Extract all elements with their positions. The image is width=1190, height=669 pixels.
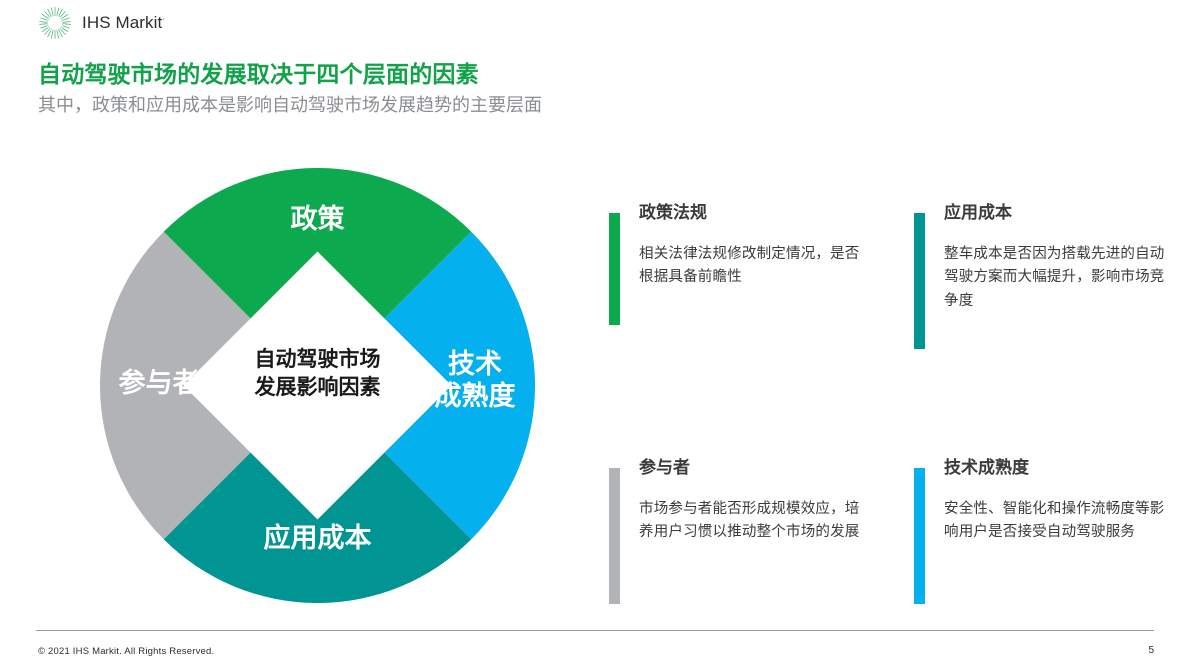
brand-wordmark-text: IHS Markit	[82, 13, 162, 32]
page-subtitle: 其中，政策和应用成本是影响自动驾驶市场发展趋势的主要层面	[38, 91, 542, 117]
info-card-tech-body-row: 安全性、智能化和操作流畅度等影响用户是否接受自动驾驶服务	[914, 498, 1166, 545]
info-card-players-accent-bar	[609, 468, 620, 604]
info-card-players-text: 市场参与者能否形成规模效应，培养用户习惯以推动整个市场的发展	[639, 498, 861, 545]
info-card-cost-body-row: 整车成本是否因为搭载先进的自动驾驶方案而大幅提升，影响市场竞争度	[914, 243, 1166, 313]
footer-page-number: 5	[1148, 645, 1154, 656]
info-card-cost: 应用成本 整车成本是否因为搭载先进的自动驾驶方案而大幅提升，影响市场竞争度	[914, 204, 1166, 313]
info-card-policy: 政策法规 相关法律法规修改制定情况，是否根据具备前瞻性	[609, 204, 861, 290]
wheel-label-cost: 应用成本	[100, 523, 535, 555]
info-card-policy-accent-bar	[609, 213, 620, 325]
info-card-policy-title: 政策法规	[639, 204, 861, 223]
info-card-players: 参与者 市场参与者能否形成规模效应，培养用户习惯以推动整个市场的发展	[609, 459, 861, 545]
info-card-cost-title: 应用成本	[944, 204, 1166, 223]
info-card-players-body-row: 市场参与者能否形成规模效应，培养用户习惯以推动整个市场的发展	[609, 498, 861, 545]
info-card-tech: 技术成熟度 安全性、智能化和操作流畅度等影响用户是否接受自动驾驶服务	[914, 459, 1166, 545]
info-card-cost-text: 整车成本是否因为搭载先进的自动驾驶方案而大幅提升，影响市场竞争度	[944, 243, 1166, 313]
info-card-policy-text: 相关法律法规修改制定情况，是否根据具备前瞻性	[639, 243, 861, 290]
info-card-policy-body-row: 相关法律法规修改制定情况，是否根据具备前瞻性	[609, 243, 861, 290]
ihs-markit-sunburst-icon	[38, 6, 72, 40]
info-card-tech-accent-bar	[914, 468, 925, 604]
brand-trademark: ·	[162, 14, 165, 23]
info-card-cost-accent-bar	[914, 213, 925, 349]
page-title: 自动驾驶市场的发展取决于四个层面的因素	[38, 55, 479, 89]
wheel-center-line2: 发展影响因素	[100, 374, 535, 402]
four-factor-wheel-diagram: 政策 技术 成熟度 应用成本 参与者 自动驾驶市场 发展影响因素	[100, 168, 535, 603]
info-card-players-title: 参与者	[639, 459, 861, 478]
footer-copyright: © 2021 IHS Markit. All Rights Reserved.	[38, 646, 214, 657]
wheel-label-policy: 政策	[100, 204, 535, 236]
info-card-tech-title: 技术成熟度	[944, 459, 1166, 478]
brand-wordmark: IHS Markit·	[82, 13, 165, 33]
brand-logo: IHS Markit·	[38, 6, 165, 40]
info-card-tech-text: 安全性、智能化和操作流畅度等影响用户是否接受自动驾驶服务	[944, 498, 1166, 545]
wheel-center-line1: 自动驾驶市场	[100, 346, 535, 374]
wheel-center-text: 自动驾驶市场 发展影响因素	[100, 346, 535, 401]
footer-divider	[36, 630, 1154, 631]
